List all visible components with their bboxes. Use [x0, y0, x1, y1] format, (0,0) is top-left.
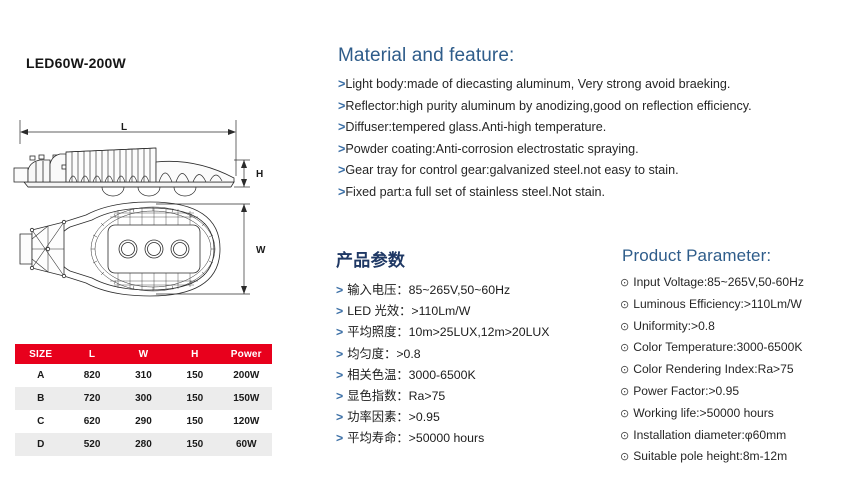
en-parameter-text: Working life:>50000 hours	[633, 406, 774, 420]
cell-power: 200W	[221, 364, 272, 387]
en-parameter-item: ⊙Color Temperature:3000-6500K	[620, 337, 860, 359]
feature-text: Reflector:high purity aluminum by anodiz…	[345, 99, 751, 113]
en-parameter-text: Input Voltage:85~265V,50-60Hz	[633, 275, 804, 289]
cell-l: 620	[66, 410, 117, 433]
circle-dot-icon: ⊙	[620, 277, 629, 289]
cn-parameter-heading: 产品参数	[336, 246, 606, 271]
cell-power: 150W	[221, 387, 272, 410]
feature-text: Gear tray for control gear:galvanized st…	[345, 163, 678, 177]
en-parameter-item: ⊙Input Voltage:85~265V,50-60Hz	[620, 272, 860, 294]
en-parameter-text: Color Temperature:3000-6500K	[633, 340, 802, 354]
cn-parameter-item: >输入电压：85~265V,50~60Hz	[336, 280, 606, 301]
dimension-label-height: H	[256, 169, 263, 180]
cell-h: 150	[169, 410, 220, 433]
cn-parameter-item: >相关色温：3000-6500K	[336, 365, 606, 386]
cell-w: 290	[118, 410, 169, 433]
cn-parameter-text: 均匀度：>0.8	[347, 347, 420, 361]
feature-item: >Diffuser:tempered glass.Anti-high tempe…	[338, 117, 853, 139]
product-parameter-en-section: Product Parameter: ⊙Input Voltage:85~265…	[620, 246, 860, 468]
cell-h: 150	[169, 387, 220, 410]
en-parameter-heading: Product Parameter:	[622, 246, 860, 266]
col-l: L	[66, 344, 117, 364]
circle-dot-icon: ⊙	[620, 342, 629, 354]
cell-w: 300	[118, 387, 169, 410]
cell-power: 120W	[221, 410, 272, 433]
feature-item: >Light body:made of diecasting aluminum,…	[338, 74, 853, 96]
bullet-marker: >	[336, 304, 343, 318]
table-row: A 820 310 150 200W	[15, 364, 272, 387]
bullet-marker: >	[336, 347, 343, 361]
cell-w: 310	[118, 364, 169, 387]
cn-parameter-item: >功率因素：>0.95	[336, 407, 606, 428]
circle-dot-icon: ⊙	[620, 386, 629, 398]
cn-parameter-text: 平均照度：10m>25LUX,12m>20LUX	[347, 325, 549, 339]
cn-parameter-item: >显色指数：Ra>75	[336, 386, 606, 407]
cell-w: 280	[118, 433, 169, 456]
col-w: W	[118, 344, 169, 364]
table-row: C 620 290 150 120W	[15, 410, 272, 433]
feature-text: Fixed part:a full set of stainless steel…	[345, 185, 605, 199]
dimension-height	[234, 160, 250, 187]
cell-l: 720	[66, 387, 117, 410]
cell-size: D	[15, 433, 66, 456]
en-parameter-text: Power Factor:>0.95	[633, 384, 739, 398]
bullet-marker: >	[336, 410, 343, 424]
cn-parameter-text: 相关色温：3000-6500K	[347, 368, 476, 382]
circle-dot-icon: ⊙	[620, 430, 629, 442]
en-parameter-text: Suitable pole height:8m-12m	[633, 449, 787, 463]
bullet-marker: >	[336, 283, 343, 297]
en-parameter-text: Installation diameter:φ60mm	[633, 428, 786, 442]
en-parameter-text: Uniformity:>0.8	[633, 319, 715, 333]
cell-h: 150	[169, 364, 220, 387]
circle-dot-icon: ⊙	[620, 451, 629, 463]
feature-text: Diffuser:tempered glass.Anti-high temper…	[345, 120, 606, 134]
cell-l: 520	[66, 433, 117, 456]
cn-parameter-item: >均匀度：>0.8	[336, 344, 606, 365]
table-row: D 520 280 150 60W	[15, 433, 272, 456]
material-feature-section: Material and feature: >Light body:made o…	[338, 45, 853, 203]
bullet-marker: >	[336, 325, 343, 339]
col-h: H	[169, 344, 220, 364]
table-header-row: SIZE L W H Power	[15, 344, 272, 364]
cn-parameter-item: >LED 光效：>110Lm/W	[336, 301, 606, 322]
cn-parameter-item: >平均照度：10m>25LUX,12m>20LUX	[336, 322, 606, 343]
en-parameter-item: ⊙Installation diameter:φ60mm	[620, 425, 860, 447]
cn-parameter-text: 平均寿命：>50000 hours	[347, 431, 484, 445]
cn-parameter-text: 输入电压：85~265V,50~60Hz	[347, 283, 510, 297]
feature-text: Light body:made of diecasting aluminum, …	[345, 77, 730, 91]
en-parameter-item: ⊙Luminous Efficiency:>110Lm/W	[620, 294, 860, 316]
feature-text: Powder coating:Anti-corrosion electrosta…	[345, 142, 638, 156]
circle-dot-icon: ⊙	[620, 299, 629, 311]
cell-size: A	[15, 364, 66, 387]
en-parameter-text: Color Rendering Index:Ra>75	[633, 362, 793, 376]
cn-parameter-text: LED 光效：>110Lm/W	[347, 304, 470, 318]
cn-parameter-item: >平均寿命：>50000 hours	[336, 428, 606, 449]
cell-power: 60W	[221, 433, 272, 456]
cell-size: B	[15, 387, 66, 410]
technical-drawing: L H W	[6, 118, 276, 323]
product-parameter-cn-section: 产品参数 >输入电压：85~265V,50~60Hz >LED 光效：>110L…	[336, 246, 606, 450]
feature-item: >Reflector:high purity aluminum by anodi…	[338, 96, 853, 118]
cn-parameter-text: 功率因素：>0.95	[347, 410, 440, 424]
en-parameter-item: ⊙Color Rendering Index:Ra>75	[620, 359, 860, 381]
col-size: SIZE	[15, 344, 66, 364]
feature-item: >Gear tray for control gear:galvanized s…	[338, 160, 853, 182]
cell-size: C	[15, 410, 66, 433]
bullet-marker: >	[336, 368, 343, 382]
en-parameter-item: ⊙Working life:>50000 hours	[620, 403, 860, 425]
spec-sheet-page: LED60W-200W	[0, 0, 860, 480]
col-power: Power	[221, 344, 272, 364]
page-title: LED60W-200W	[26, 55, 126, 71]
feature-item: >Fixed part:a full set of stainless stee…	[338, 182, 853, 204]
size-table: SIZE L W H Power A 820 310 150 200W B 72…	[15, 344, 272, 456]
circle-dot-icon: ⊙	[620, 408, 629, 420]
dimension-label-width: W	[256, 245, 266, 256]
en-parameter-text: Luminous Efficiency:>110Lm/W	[633, 297, 802, 311]
cell-h: 150	[169, 433, 220, 456]
circle-dot-icon: ⊙	[620, 321, 629, 333]
bullet-marker: >	[336, 431, 343, 445]
table-row: B 720 300 150 150W	[15, 387, 272, 410]
dimension-label-length: L	[121, 122, 127, 133]
cn-parameter-text: 显色指数：Ra>75	[347, 389, 445, 403]
en-parameter-item: ⊙Power Factor:>0.95	[620, 381, 860, 403]
bullet-marker: >	[336, 389, 343, 403]
en-parameter-item: ⊙Uniformity:>0.8	[620, 316, 860, 338]
drawing-svg: L H W	[6, 118, 276, 323]
feature-item: >Powder coating:Anti-corrosion electrost…	[338, 139, 853, 161]
circle-dot-icon: ⊙	[620, 364, 629, 376]
en-parameter-item: ⊙Suitable pole height:8m-12m	[620, 446, 860, 468]
cell-l: 820	[66, 364, 117, 387]
material-heading: Material and feature:	[338, 45, 853, 67]
